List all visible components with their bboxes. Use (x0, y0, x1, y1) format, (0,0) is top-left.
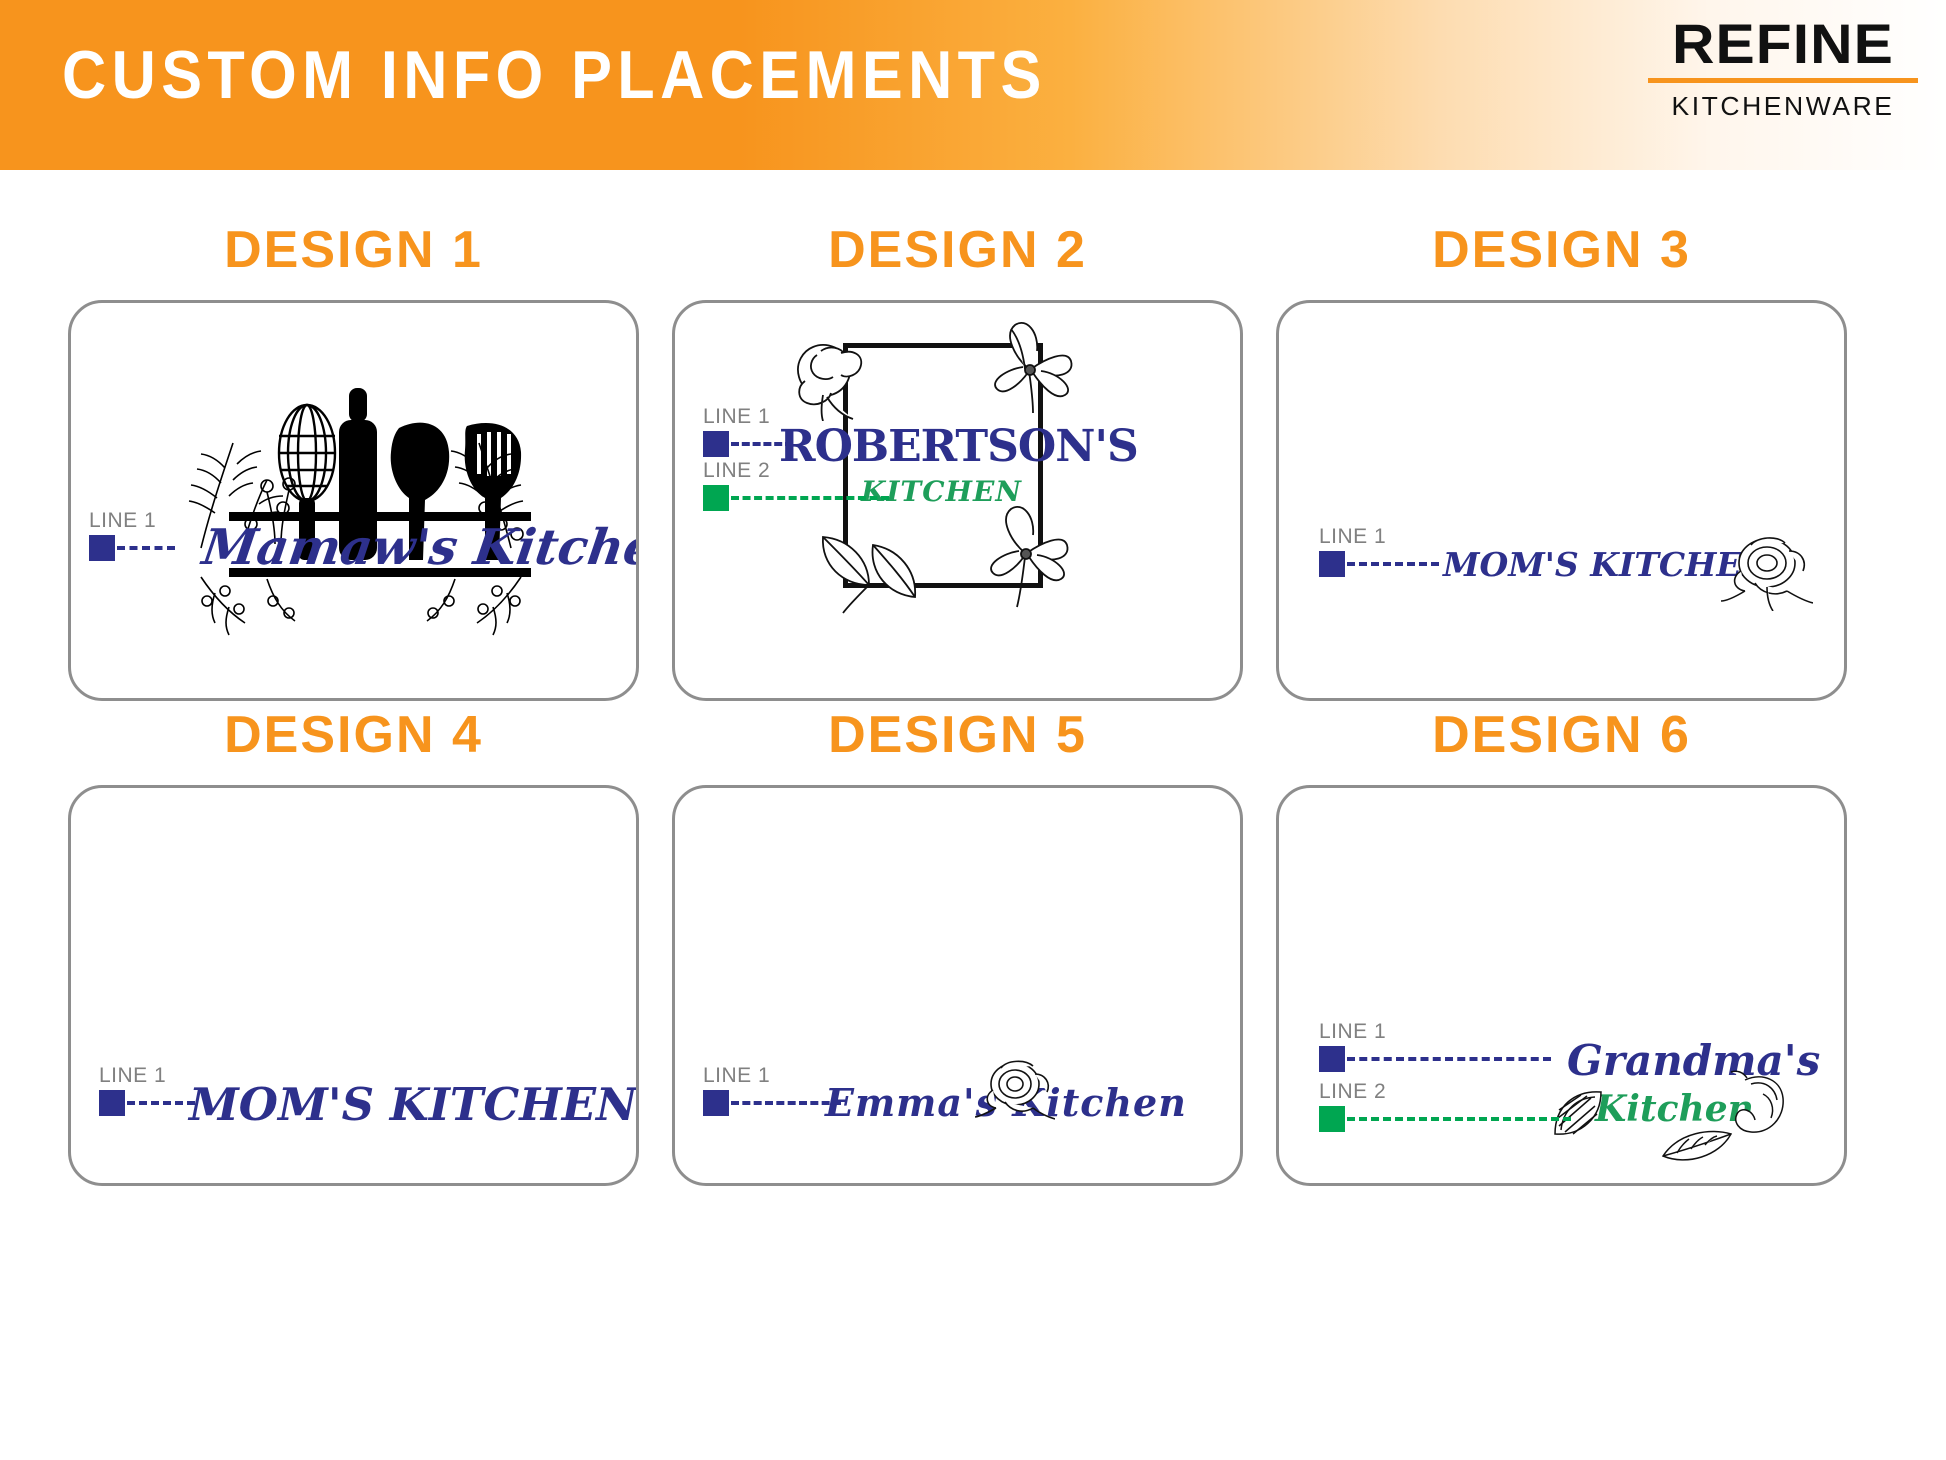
design-1-title: DESIGN 1 (68, 220, 639, 280)
design-6-line1-label: LINE 1 (1319, 1020, 1386, 1044)
line1-dashed-leader (127, 1101, 195, 1105)
design-3-title: DESIGN 3 (1276, 220, 1847, 280)
line2-square-marker-icon (703, 485, 729, 511)
design-5-line1-marker[interactable]: LINE 1 (703, 1090, 841, 1116)
design-1-line1-artwork-text: Mamaw's Kitchen (199, 518, 639, 576)
design-2-lily-top-icon (975, 317, 1085, 417)
design-3-line1-marker[interactable]: LINE 1 (1319, 551, 1439, 577)
line1-square-marker-icon (1319, 551, 1345, 577)
design-5-rose-icon (975, 1056, 1055, 1128)
line1-square-marker-icon (703, 431, 729, 457)
logo-divider-rule (1648, 78, 1918, 83)
design-5-title: DESIGN 5 (672, 705, 1243, 765)
design-6-leaf-icon (1657, 1126, 1737, 1166)
design-card-1[interactable]: DESIGN 1 (68, 220, 639, 701)
line2-dashed-leader (731, 496, 889, 500)
page-header: CUSTOM INFO PLACEMENTS REFINE KITCHENWAR… (0, 0, 1946, 170)
design-6-line2-label: LINE 2 (1319, 1080, 1386, 1104)
design-1-line1-marker[interactable]: LINE 1 (89, 535, 175, 561)
design-4-line1-marker[interactable]: LINE 1 (99, 1090, 195, 1116)
line2-square-marker-icon (1319, 1106, 1345, 1132)
design-6-board[interactable]: Grandma's Kitchen (1276, 785, 1847, 1186)
line1-dashed-leader (1347, 1057, 1551, 1061)
design-6-line1-marker[interactable]: LINE 1 (1319, 1046, 1551, 1072)
design-2-line1-label: LINE 1 (703, 405, 770, 429)
line1-dashed-leader (731, 442, 793, 446)
design-2-line2-label: LINE 2 (703, 459, 770, 483)
design-card-6[interactable]: DESIGN 6 Grandma's Kitchen (1276, 705, 1847, 1186)
design-2-line1-marker[interactable]: LINE 1 (703, 431, 793, 457)
design-card-2[interactable]: DESIGN 2 (672, 220, 1243, 701)
design-2-title: DESIGN 2 (672, 220, 1243, 280)
line1-square-marker-icon (89, 535, 115, 561)
design-4-board[interactable]: MOM'S KITCHEN LINE 1 (68, 785, 639, 1186)
line2-dashed-leader (1347, 1117, 1571, 1121)
design-3-board[interactable]: MOM'S KITCHEN (1276, 300, 1847, 701)
design-card-4[interactable]: DESIGN 4 MOM'S KITCHEN LINE 1 (68, 705, 639, 1186)
design-2-rose-icon (783, 325, 873, 421)
design-1-board[interactable]: Mamaw's Kitchen LINE 1 (68, 300, 639, 701)
line1-dashed-leader (117, 546, 175, 550)
design-4-title: DESIGN 4 (68, 705, 639, 765)
logo-secondary-text: KITCHENWARE (1645, 91, 1920, 122)
design-card-3[interactable]: DESIGN 3 MOM'S KITCHEN (1276, 220, 1847, 701)
line1-square-marker-icon (703, 1090, 729, 1116)
line1-dashed-leader (1347, 562, 1439, 566)
brand-logo: REFINE KITCHENWARE (1648, 16, 1918, 122)
line1-square-marker-icon (1319, 1046, 1345, 1072)
design-2-line1-artwork-text: ROBERTSON'S (779, 421, 1138, 472)
design-3-rose-icon (1721, 531, 1813, 611)
design-4-line1-artwork-text: MOM'S KITCHEN (189, 1078, 637, 1131)
page-title: CUSTOM INFO PLACEMENTS (62, 36, 1047, 114)
design-1-lower-foliage (181, 571, 541, 641)
design-5-line1-label: LINE 1 (703, 1064, 770, 1088)
designs-grid: DESIGN 1 (0, 170, 1946, 1460)
design-3-line1-label: LINE 1 (1319, 525, 1386, 549)
design-2-lily-bottom-icon (975, 503, 1085, 613)
design-card-5[interactable]: DESIGN 5 Emma's Kitchen (672, 705, 1243, 1186)
design-6-line2-marker[interactable]: LINE 2 (1319, 1106, 1571, 1132)
design-2-board[interactable]: ROBERTSON'S KITCHEN LINE 1 LINE 2 (672, 300, 1243, 701)
line1-square-marker-icon (99, 1090, 125, 1116)
design-5-board[interactable]: Emma's Kitchen (672, 785, 1243, 1186)
design-6-title: DESIGN 6 (1276, 705, 1847, 765)
logo-primary-text: REFINE (1641, 16, 1925, 72)
design-4-line1-label: LINE 1 (99, 1064, 166, 1088)
design-2-leaves-icon (803, 525, 938, 615)
design-1-line1-label: LINE 1 (89, 509, 156, 533)
design-2-line2-marker[interactable]: LINE 2 (703, 485, 889, 511)
line1-dashed-leader (731, 1101, 841, 1105)
